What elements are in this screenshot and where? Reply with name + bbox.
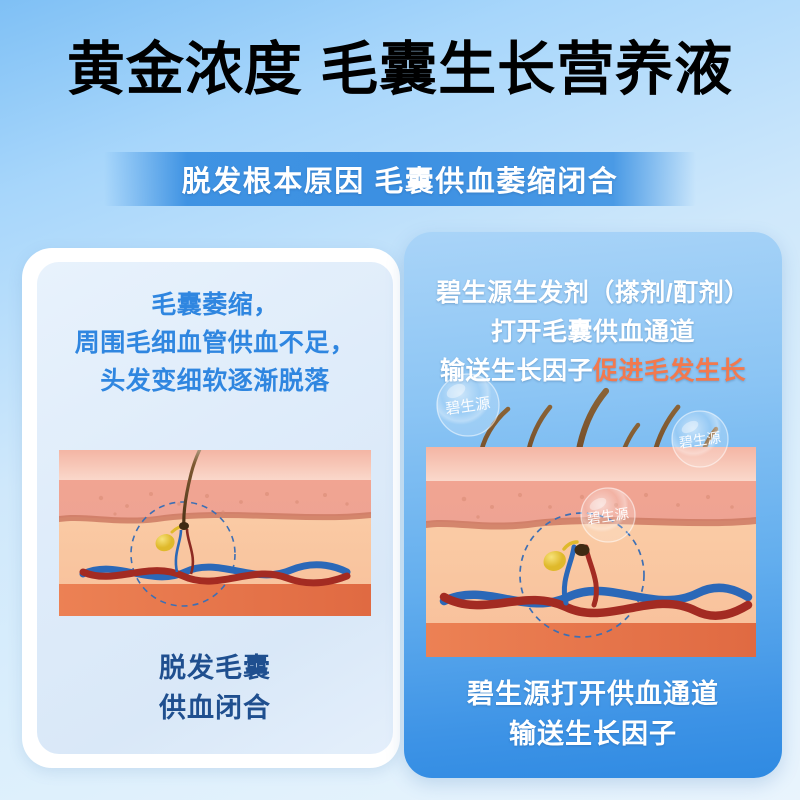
page-title: 黄金浓度 毛囊生长营养液 bbox=[0, 38, 800, 102]
left-card-line-2: 周围毛细血管供血不足， bbox=[37, 324, 393, 362]
left-card-line-3: 头发变细软逐渐脱落 bbox=[37, 362, 393, 400]
left-skin-layers bbox=[59, 436, 371, 616]
right-caption-line-2: 输送生长因子 bbox=[404, 714, 782, 754]
right-card-caption: 碧生源打开供血通道 输送生长因子 bbox=[404, 674, 782, 754]
left-caption-line-2: 供血闭合 bbox=[37, 688, 393, 728]
right-skin-layers bbox=[426, 447, 756, 657]
hair-bulb bbox=[575, 544, 590, 556]
subtitle-band: 脱发根本原因 毛囊供血萎缩闭合 bbox=[104, 152, 696, 206]
left-caption-line-1: 脱发毛囊 bbox=[37, 648, 393, 688]
product-bubble: 碧生源 bbox=[437, 374, 499, 436]
title-navy-part: 毛囊生长营养液 bbox=[320, 37, 733, 102]
right-caption-line-1: 碧生源打开供血通道 bbox=[404, 674, 782, 714]
left-card-caption: 脱发毛囊 供血闭合 bbox=[37, 648, 393, 728]
title-blue-part: 黄金浓度 bbox=[67, 37, 303, 102]
right-skin-illustration: 碧生源 碧生源 碧生源 bbox=[416, 367, 772, 657]
product-bubble: 碧生源 bbox=[581, 488, 635, 542]
right-card: 碧生源生发剂（搽剂/酊剂） 打开毛囊供血通道 输送生长因子促进毛发生长 bbox=[404, 232, 782, 778]
right-card-line-2: 打开毛囊供血通道 bbox=[404, 313, 782, 352]
left-card-line-1: 毛囊萎缩， bbox=[37, 286, 393, 324]
page-header: 黄金浓度 毛囊生长营养液 bbox=[0, 0, 800, 132]
left-card: 毛囊萎缩， 周围毛细血管供血不足， 头发变细软逐渐脱落 bbox=[37, 262, 393, 754]
left-skin-illustration bbox=[55, 422, 375, 622]
left-card-description: 毛囊萎缩， 周围毛细血管供血不足， 头发变细软逐渐脱落 bbox=[37, 286, 393, 400]
right-card-line-1: 碧生源生发剂（搽剂/酊剂） bbox=[404, 274, 782, 313]
product-bubble: 碧生源 bbox=[672, 411, 728, 467]
subtitle-text: 脱发根本原因 毛囊供血萎缩闭合 bbox=[104, 152, 696, 206]
hair-bulb bbox=[179, 522, 189, 530]
